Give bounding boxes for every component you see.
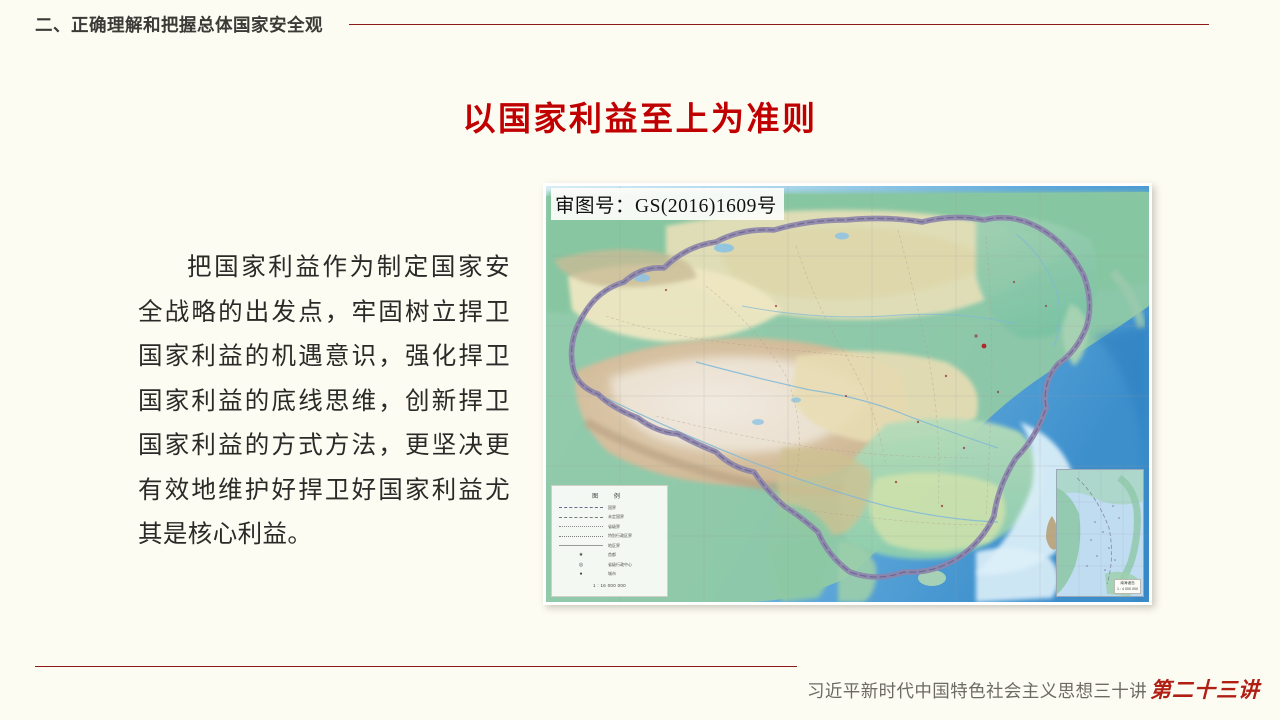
provincial-capital-circle-icon: ◎ <box>558 562 604 568</box>
legend-item: 特别行政区界 <box>558 532 661 542</box>
capital-star-icon: ★ <box>558 552 604 558</box>
map-legend-title: 图 例 <box>558 491 661 500</box>
page-title: 以国家利益至上为准则 <box>0 92 1280 140</box>
undefined-border-line-icon <box>558 517 604 518</box>
legend-item: 地区界 <box>558 541 661 551</box>
map-scale-label: 1 : 16 000 000 <box>558 583 661 588</box>
body-paragraph: 把国家利益作为制定国家安全战略的出发点，牢固树立捍卫国家利益的机遇意识，强化捍卫… <box>138 246 510 558</box>
province-border-line-icon <box>558 526 604 527</box>
slide-footer: 习近平新时代中国特色社会主义思想三十讲 第二十三讲 <box>0 656 1280 720</box>
city-dot-icon: ● <box>558 571 604 577</box>
inset-map-label: 南海诸岛 1 : 4 000 000 <box>1114 579 1141 594</box>
section-heading: 二、正确理解和把握总体国家安全观 <box>35 12 323 37</box>
legend-item-label: 首都 <box>608 552 616 558</box>
footer-lecture-number: 第二十三讲 <box>1150 674 1260 704</box>
legend-item: ★ 首都 <box>558 551 661 561</box>
sar-border-line-icon <box>558 536 604 537</box>
legend-item: ● 城市 <box>558 570 661 580</box>
slide-header: 二、正确理解和把握总体国家安全观 <box>0 0 1280 48</box>
map-approval-number: 审图号：GS(2016)1609号 <box>551 188 784 220</box>
inset-map-graphic <box>1057 470 1144 597</box>
legend-item-label: 城市 <box>608 571 616 577</box>
china-map-figure: 审图号：GS(2016)1609号 图 例 国界 未定国界 省级界 特别行政区界 <box>543 183 1152 605</box>
legend-item-label: 省级界 <box>608 524 620 530</box>
legend-item-label: 特别行政区界 <box>608 533 632 539</box>
south-china-sea-inset-map: 南海诸岛 1 : 4 000 000 <box>1056 469 1144 597</box>
footer-series-title: 习近平新时代中国特色社会主义思想三十讲 <box>807 678 1147 703</box>
legend-item-label: 省级行政中心 <box>608 562 632 568</box>
legend-item-label: 未定国界 <box>608 514 624 520</box>
header-divider-line <box>349 24 1209 25</box>
legend-item: 省级界 <box>558 522 661 532</box>
body-text-column: 把国家利益作为制定国家安全战略的出发点，牢固树立捍卫国家利益的机遇意识，强化捍卫… <box>138 246 510 558</box>
map-legend: 图 例 国界 未定国界 省级界 特别行政区界 地区界 ★ <box>551 485 668 597</box>
national-border-line-icon <box>558 507 604 508</box>
legend-item: 国界 <box>558 503 661 513</box>
legend-item-label: 地区界 <box>608 543 620 549</box>
legend-item: 未定国界 <box>558 513 661 523</box>
inset-label-scale: 1 : 4 000 000 <box>1117 587 1138 592</box>
legend-item: ◎ 省级行政中心 <box>558 560 661 570</box>
slide-root: 二、正确理解和把握总体国家安全观 以国家利益至上为准则 把国家利益作为制定国家安… <box>0 0 1280 720</box>
footer-divider-line <box>35 666 797 667</box>
legend-item-label: 国界 <box>608 505 616 511</box>
region-border-line-icon <box>558 545 604 546</box>
